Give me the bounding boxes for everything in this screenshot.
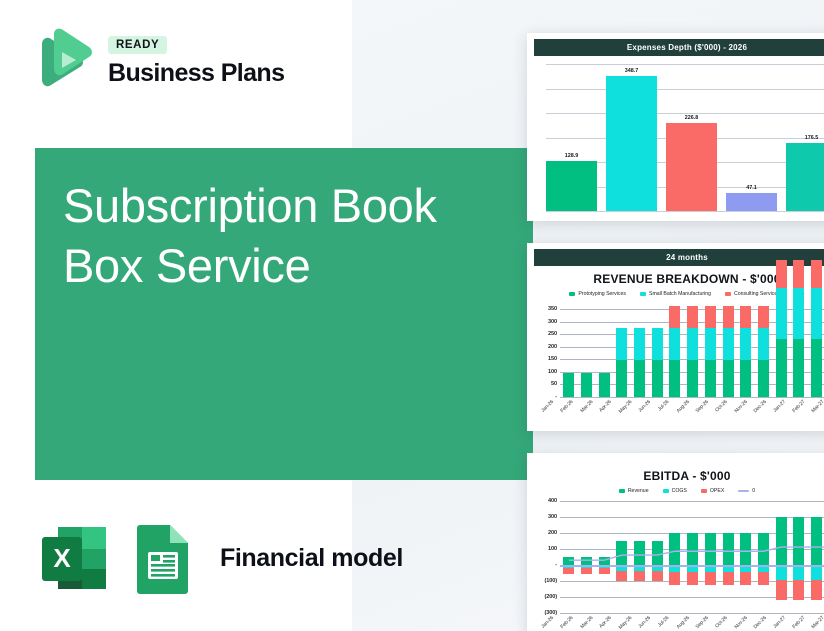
bar-slot — [631, 501, 649, 613]
y-tick-label: 250 — [548, 331, 557, 337]
x-tick-label: Jul-26 — [657, 399, 670, 412]
bar-segment-revenue — [705, 533, 716, 565]
x-label-slot: Mar-26 — [573, 399, 592, 405]
chart-card-ebitda: EBITDA - $'000 RevenueCOGSOPEX0 40030020… — [527, 453, 824, 631]
x-label-slot: Apr-26 — [592, 399, 611, 405]
legend-label: COGS — [672, 488, 687, 494]
bar-segment — [669, 360, 680, 397]
bar-segment — [599, 373, 610, 397]
bar-segment — [669, 306, 680, 328]
bar-slot — [684, 501, 702, 613]
x-label-slot: May-26 — [611, 399, 630, 405]
x-label-slot: Oct-26 — [708, 615, 727, 621]
legend-label: Consulting Services — [734, 291, 780, 297]
bar-segment-revenue — [616, 541, 627, 565]
bar-slot — [666, 501, 684, 613]
x-label-slot: Feb-26 — [553, 615, 572, 621]
y-tick-label: 100 — [548, 369, 557, 375]
bar-segment-revenue — [687, 533, 698, 565]
legend-label: 0 — [752, 488, 755, 494]
x-label-slot: May-26 — [611, 615, 630, 621]
x-label-slot: Nov-26 — [727, 615, 746, 621]
y-tick-label: 200 — [548, 530, 557, 536]
bar — [606, 76, 657, 211]
play-triangles-logo-icon — [32, 26, 94, 98]
gridline — [546, 211, 824, 212]
bar-value-label: 128.9 — [546, 153, 597, 159]
bar-segment — [687, 328, 698, 361]
x-tick-label: Sep-26 — [695, 615, 710, 630]
x-label-slot: Jun-26 — [631, 399, 650, 405]
x-tick-label: Dec-26 — [753, 615, 768, 630]
x-label-slot: Jan-27 — [766, 399, 785, 405]
bar-slot: 128.9 — [546, 64, 597, 211]
bar-slot — [578, 309, 596, 397]
bar-slot — [613, 501, 631, 613]
bar-segment-opex — [705, 572, 716, 584]
stacked-bar-negative — [616, 565, 627, 581]
x-tick-label: Feb-26 — [560, 399, 575, 414]
x-label-slot: Oct-26 — [708, 399, 727, 405]
stacked-bar-positive — [687, 533, 698, 565]
bar-slot — [595, 309, 613, 397]
x-tick-label: Oct-26 — [714, 615, 728, 629]
bar-segment-opex — [563, 568, 574, 574]
bar-segment — [811, 339, 822, 398]
x-tick-label: Mar-26 — [579, 399, 594, 414]
revenue-y-axis: 35030025020015010050- — [534, 309, 560, 397]
bar-slot — [666, 309, 684, 397]
stacked-bar-positive — [776, 517, 787, 565]
bar-segment-revenue — [758, 533, 769, 565]
legend-label: Prototyping Services — [578, 291, 626, 297]
x-label-slot: Jul-26 — [650, 615, 669, 621]
legend-item: Revenue — [619, 488, 649, 494]
x-tick-label: Jun-26 — [637, 615, 652, 630]
stacked-bar — [652, 328, 663, 397]
stacked-bar-positive — [669, 533, 680, 565]
stacked-bar — [669, 306, 680, 397]
legend-item: COGS — [663, 488, 687, 494]
revenue-x-labels: Jan-26Feb-26Mar-26Apr-26May-26Jun-26Jul-… — [534, 399, 824, 405]
legend-item: OPEX — [701, 488, 724, 494]
stacked-bar — [705, 306, 716, 397]
ebitda-zero-line — [560, 565, 824, 567]
x-tick-label: Jan-27 — [772, 615, 787, 630]
stacked-bar — [563, 373, 574, 397]
bar-slot: 348.7 — [606, 64, 657, 211]
gridline — [560, 613, 824, 614]
x-label-slot: Apr-26 — [592, 615, 611, 621]
expenses-band-title: Expenses Depth ($'000) - 2026 — [534, 39, 824, 56]
x-tick-label: Mar-27 — [811, 615, 824, 630]
x-label-slot: Aug-26 — [669, 399, 688, 405]
gridline — [560, 397, 824, 398]
legend-label: Revenue — [628, 488, 649, 494]
bar-segment-revenue — [811, 517, 822, 565]
bar-segment — [634, 328, 645, 361]
x-label-slot: Jan-26 — [534, 615, 553, 621]
financial-model-label: Financial model — [220, 544, 403, 573]
x-label-slot: Jan-27 — [766, 615, 785, 621]
ebitda-legend: RevenueCOGSOPEX0 — [534, 486, 824, 497]
expenses-bars: 128.9348.7226.847.1176.5 — [546, 64, 824, 211]
bar-segment — [776, 288, 787, 338]
stacked-bar-positive — [599, 557, 610, 565]
bar-segment — [669, 328, 680, 361]
stacked-bar-negative — [705, 565, 716, 585]
x-label-slot: Nov-26 — [727, 399, 746, 405]
bar-segment — [563, 373, 574, 397]
ebitda-plot: 400300200100-(100)(200)(300) — [534, 501, 824, 613]
x-label-slot: Jun-26 — [631, 615, 650, 621]
bar-segment — [581, 373, 592, 397]
bar-segment-revenue — [634, 541, 645, 565]
y-tick-label: (200) — [544, 594, 557, 600]
legend-item: Small Batch Manufacturing — [640, 291, 711, 297]
x-label-slot: Jul-26 — [650, 399, 669, 405]
x-label-slot: Sep-26 — [689, 615, 708, 621]
x-tick-label: Feb-27 — [792, 399, 807, 414]
bar-slot — [684, 309, 702, 397]
chart-card-revenue-breakdown: 24 months REVENUE BREAKDOWN - $'000 Prot… — [527, 243, 824, 431]
x-tick-label: Oct-26 — [714, 399, 728, 413]
bar-segment-opex — [740, 572, 751, 584]
x-tick-label: Nov-26 — [734, 615, 749, 630]
bar-segment — [723, 328, 734, 361]
legend-label: Small Batch Manufacturing — [649, 291, 711, 297]
stacked-bar — [599, 373, 610, 397]
bar-segment — [652, 360, 663, 397]
ready-badge: READY — [108, 36, 167, 54]
stacked-bar — [687, 306, 698, 397]
x-tick-label: Sep-26 — [695, 399, 710, 414]
ebitda-bars — [560, 501, 824, 613]
ebitda-chart-title: EBITDA - $'000 — [534, 459, 824, 486]
bar-segment-opex — [687, 572, 698, 584]
x-label-slot: Mar-27 — [804, 399, 823, 405]
bar-segment — [705, 306, 716, 328]
stacked-bar-positive — [723, 533, 734, 565]
bar-segment — [616, 328, 627, 361]
bar-value-label: 176.5 — [786, 135, 824, 141]
bar-slot — [772, 309, 790, 397]
microsoft-excel-icon: X — [36, 519, 114, 597]
legend-swatch — [569, 292, 575, 296]
stacked-bar — [581, 373, 592, 397]
stacked-bar — [776, 260, 787, 397]
stacked-bar-positive — [581, 557, 592, 565]
bar-slot — [648, 309, 666, 397]
footer-row: X Financial model — [36, 519, 403, 597]
stacked-bar — [758, 306, 769, 397]
x-label-slot: Jan-26 — [534, 399, 553, 405]
stacked-bar — [740, 306, 751, 397]
bar-segment — [634, 360, 645, 397]
x-tick-label: Aug-26 — [676, 399, 691, 414]
stacked-bar — [616, 328, 627, 397]
bar-slot — [702, 501, 720, 613]
bar-segment-opex — [652, 571, 663, 581]
x-tick-label: May-26 — [618, 615, 634, 631]
x-label-slot: Feb-27 — [785, 615, 804, 621]
legend-label: OPEX — [710, 488, 724, 494]
stacked-bar-positive — [634, 541, 645, 565]
bar-segment-revenue — [723, 533, 734, 565]
stacked-bar-positive — [758, 533, 769, 565]
bar-segment-opex — [581, 568, 592, 574]
stacked-bar-negative — [669, 565, 680, 585]
stacked-bar-positive — [705, 533, 716, 565]
page-title: Subscription Book Box Service — [63, 176, 513, 296]
bar-segment — [723, 360, 734, 397]
bar-slot — [790, 501, 808, 613]
svg-text:X: X — [53, 543, 71, 573]
bar-slot — [631, 309, 649, 397]
x-label-slot: Sep-26 — [689, 399, 708, 405]
bar-segment-cogs — [811, 565, 822, 580]
stacked-bar-negative — [723, 565, 734, 585]
x-label-slot: Mar-26 — [573, 615, 592, 621]
x-tick-label: Mar-27 — [811, 399, 824, 414]
bar-segment — [687, 360, 698, 397]
x-label-slot: Dec-26 — [746, 615, 765, 621]
bar-segment — [758, 306, 769, 328]
bar-value-label: 226.8 — [666, 115, 717, 121]
stacked-bar — [811, 260, 822, 397]
google-sheets-icon — [130, 519, 196, 597]
y-tick-label: 150 — [548, 356, 557, 362]
bar-segment-opex — [811, 580, 822, 600]
bar-segment-opex — [758, 572, 769, 584]
bar-segment-revenue — [776, 517, 787, 565]
bar-slot: 47.1 — [726, 64, 777, 211]
bar-segment-opex — [616, 571, 627, 581]
bar — [666, 123, 717, 211]
bar-segment — [793, 339, 804, 398]
expenses-plot: 128.9348.7226.847.1176.5 — [536, 64, 824, 211]
stacked-bar-positive — [793, 517, 804, 565]
bar-segment — [705, 328, 716, 361]
legend-swatch — [738, 490, 749, 492]
legend-swatch — [663, 489, 669, 493]
bar-segment — [793, 260, 804, 288]
bar-slot — [613, 309, 631, 397]
y-tick-label: 400 — [548, 498, 557, 504]
bar-segment-opex — [634, 571, 645, 581]
legend-item: Prototyping Services — [569, 291, 626, 297]
stacked-bar-positive — [740, 533, 751, 565]
bar-segment-revenue — [563, 557, 574, 565]
bar-segment-revenue — [793, 517, 804, 565]
stacked-bar-negative — [758, 565, 769, 585]
chart-card-expenses: Expenses Depth ($'000) - 2026 128.9348.7… — [527, 33, 824, 221]
bar-segment — [811, 260, 822, 288]
x-label-slot: Aug-26 — [669, 615, 688, 621]
y-tick-label: 350 — [548, 306, 557, 312]
bar-segment-cogs — [793, 565, 804, 580]
bar-segment — [616, 360, 627, 397]
brand-lockup: READY Business Plans — [32, 26, 284, 98]
bar-slot — [560, 309, 578, 397]
x-tick-label: Jan-26 — [541, 615, 556, 630]
ebitda-y-axis: 400300200100-(100)(200)(300) — [534, 501, 560, 613]
bar-segment-cogs — [776, 565, 787, 580]
bar-segment-revenue — [599, 557, 610, 565]
bar-slot — [719, 309, 737, 397]
ebitda-x-labels: Jan-26Feb-26Mar-26Apr-26May-26Jun-26Jul-… — [534, 615, 824, 621]
bar-value-label: 348.7 — [606, 68, 657, 74]
bar-slot — [772, 501, 790, 613]
x-tick-label: Mar-26 — [579, 615, 594, 630]
x-label-slot: Mar-27 — [804, 615, 823, 621]
bar-slot — [755, 309, 773, 397]
brand-name: Business Plans — [108, 59, 284, 88]
bar-segment-opex — [669, 572, 680, 584]
bar-segment — [776, 260, 787, 288]
x-label-slot: Dec-26 — [746, 399, 765, 405]
x-tick-label: Dec-26 — [753, 399, 768, 414]
y-tick-label: - — [555, 562, 557, 568]
stacked-bar-negative — [687, 565, 698, 585]
x-tick-label: Jan-27 — [772, 399, 787, 414]
stacked-bar-positive — [563, 557, 574, 565]
bar-segment — [652, 328, 663, 361]
bar-slot — [719, 501, 737, 613]
y-tick-label: 300 — [548, 514, 557, 520]
bar-slot — [595, 501, 613, 613]
bar-segment — [758, 360, 769, 397]
bar — [546, 161, 597, 211]
bar-segment — [723, 306, 734, 328]
bar-segment — [793, 288, 804, 338]
bar-slot — [737, 309, 755, 397]
bar-segment — [740, 328, 751, 361]
revenue-bars — [560, 309, 824, 397]
stacked-bar-negative — [793, 565, 804, 600]
bar-slot — [648, 501, 666, 613]
bar-segment — [740, 306, 751, 328]
revenue-plot: 35030025020015010050- — [534, 309, 824, 397]
stacked-bar-negative — [652, 565, 663, 581]
y-tick-label: (100) — [544, 578, 557, 584]
bar-segment-opex — [723, 572, 734, 584]
bar-segment-opex — [793, 580, 804, 600]
legend-swatch — [725, 292, 731, 296]
stacked-bar-negative — [634, 565, 645, 581]
bar-segment-revenue — [652, 541, 663, 565]
stacked-bar-positive — [652, 541, 663, 565]
bar-segment — [740, 360, 751, 397]
x-tick-label: Aug-26 — [676, 615, 691, 630]
bar-slot — [790, 309, 808, 397]
x-tick-label: Apr-26 — [599, 615, 613, 629]
bar-slot — [808, 309, 824, 397]
bar-slot — [755, 501, 773, 613]
bar-segment — [687, 306, 698, 328]
x-tick-label: Jan-26 — [541, 399, 556, 414]
x-tick-label: May-26 — [618, 399, 634, 415]
bar-segment-opex — [776, 580, 787, 600]
y-tick-label: 300 — [548, 319, 557, 325]
bar-slot — [702, 309, 720, 397]
bar-slot — [737, 501, 755, 613]
x-tick-label: Jul-26 — [657, 615, 670, 628]
bar-slot — [578, 501, 596, 613]
bar-segment — [705, 360, 716, 397]
x-tick-label: Feb-27 — [792, 615, 807, 630]
bar-segment — [811, 288, 822, 338]
x-tick-label: Apr-26 — [599, 399, 613, 413]
y-tick-label: 200 — [548, 344, 557, 350]
stacked-bar-positive — [616, 541, 627, 565]
legend-swatch — [701, 489, 707, 493]
stacked-bar — [634, 328, 645, 397]
bar-slot — [560, 501, 578, 613]
bar-segment — [758, 328, 769, 361]
bar-segment-opex — [599, 568, 610, 574]
stacked-bar — [793, 260, 804, 397]
legend-item: Consulting Services — [725, 291, 780, 297]
bar-segment-revenue — [669, 533, 680, 565]
stacked-bar-negative — [776, 565, 787, 600]
bar-segment-revenue — [581, 557, 592, 565]
bar-slot — [808, 501, 824, 613]
bar-segment — [776, 339, 787, 398]
bar — [726, 193, 777, 211]
hero-panel: Subscription Book Box Service — [35, 148, 533, 480]
bar-slot: 176.5 — [786, 64, 824, 211]
legend-item: 0 — [738, 488, 755, 494]
x-label-slot: Feb-27 — [785, 399, 804, 405]
x-tick-label: Feb-26 — [560, 615, 575, 630]
y-tick-label: 50 — [551, 381, 557, 387]
bar-slot: 226.8 — [666, 64, 717, 211]
stacked-bar-negative — [811, 565, 822, 600]
bar-value-label: 47.1 — [726, 185, 777, 191]
stacked-bar-negative — [740, 565, 751, 585]
stacked-bar — [723, 306, 734, 397]
x-label-slot: Feb-26 — [553, 399, 572, 405]
stacked-bar-positive — [811, 517, 822, 565]
legend-swatch — [619, 489, 625, 493]
bar — [786, 143, 824, 211]
y-tick-label: 100 — [548, 546, 557, 552]
legend-swatch — [640, 292, 646, 296]
x-tick-label: Jun-26 — [637, 399, 652, 414]
x-tick-label: Nov-26 — [734, 399, 749, 414]
bar-segment-revenue — [740, 533, 751, 565]
